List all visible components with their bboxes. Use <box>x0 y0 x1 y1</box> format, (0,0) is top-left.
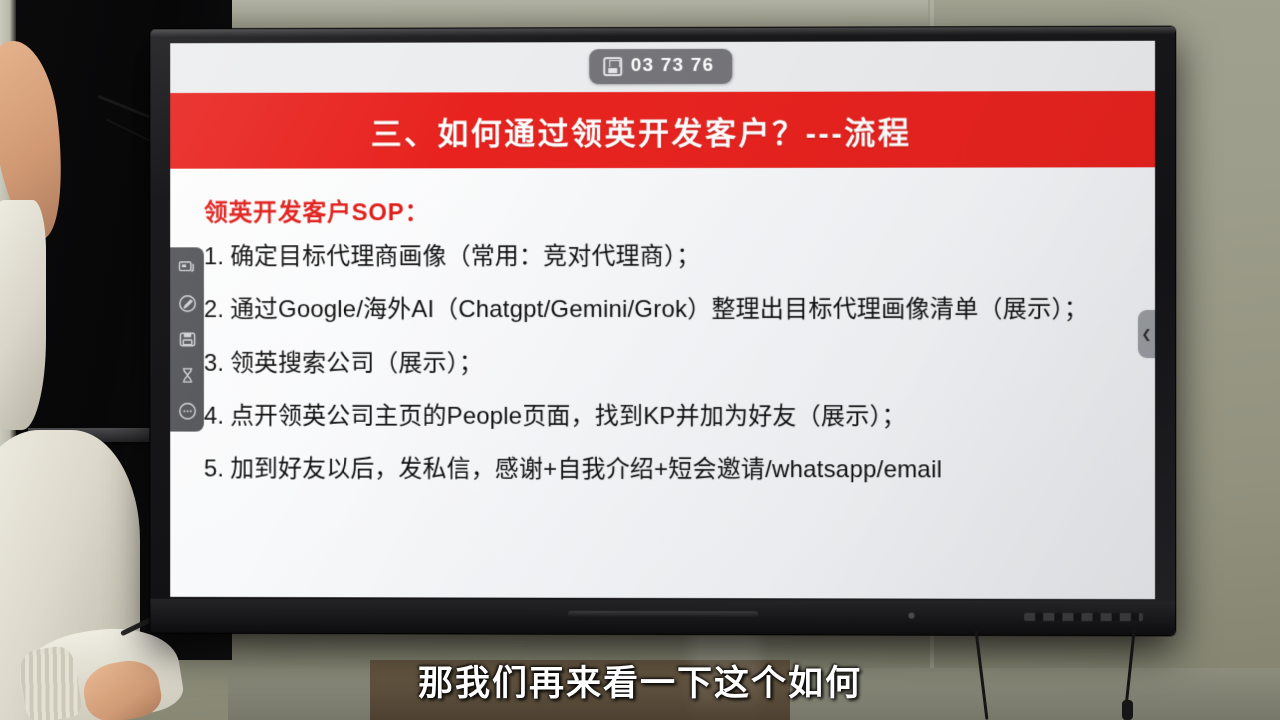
pen-annotate-icon[interactable] <box>176 292 199 315</box>
display-bottom-bezel <box>150 599 1175 636</box>
sop-heading: 领英开发客户SOP： <box>204 191 1127 227</box>
list-item-text: 点开领英公司主页的People页面，找到KP并加为好友（展示）； <box>230 403 906 430</box>
display-screen[interactable]: 03 73 76 三、如何通过领英开发客户？---流程 领英开发客户SOP： 1… <box>170 41 1155 599</box>
chevron-left-icon: ❮ <box>1141 327 1151 341</box>
list-item: 2.通过Google/海外AI（Chatgpt/Gemini/Grok）整理出目… <box>198 296 1127 324</box>
list-item-text: 通过Google/海外AI（Chatgpt/Gemini/Grok）整理出目标代… <box>230 296 1088 323</box>
save-capture-icon[interactable] <box>176 328 199 351</box>
list-item-number: 3. <box>204 350 224 377</box>
list-item-text: 确定目标代理商画像（常用：竞对代理商）； <box>230 243 700 270</box>
list-item-number: 4. <box>204 403 224 430</box>
video-caption: 那我们再来看一下这个如何 <box>0 655 1280 706</box>
slide-body: 领英开发客户SOP： 1.确定目标代理商画像（常用：竞对代理商）； 2.通过Go… <box>170 167 1155 599</box>
collapse-panel-tab[interactable]: ❮ <box>1138 310 1155 358</box>
hourglass-timer-icon[interactable] <box>176 364 199 387</box>
list-item-text: 领英搜索公司（展示）； <box>230 350 483 377</box>
list-item-number: 5. <box>204 456 224 483</box>
bezel-sheen <box>150 27 1175 38</box>
speaker-grille <box>568 611 758 618</box>
timer-badge[interactable]: 03 73 76 <box>589 49 733 84</box>
windows-switch-icon[interactable] <box>176 256 199 279</box>
list-item-text: 加到好友以后，发私信，感谢+自我介绍+短会邀请/whatsapp/email <box>230 456 942 484</box>
sop-list: 1.确定目标代理商画像（常用：竞对代理商）； 2.通过Google/海外AI（C… <box>198 243 1127 486</box>
list-item-number: 1. <box>204 243 224 270</box>
more-menu-icon[interactable] <box>176 400 199 423</box>
save-badge-icon <box>603 57 622 76</box>
screen-top-strip: 03 73 76 <box>170 41 1155 93</box>
slide-title: 三、如何通过领英开发客户？---流程 <box>170 107 1155 154</box>
port-strip <box>1024 613 1143 621</box>
timer-value: 03 73 76 <box>631 55 715 77</box>
slide-title-banner: 三、如何通过领英开发客户？---流程 <box>170 91 1155 169</box>
room-scene: 03 73 76 三、如何通过领英开发客户？---流程 领英开发客户SOP： 1… <box>0 0 1280 720</box>
list-item: 1.确定目标代理商画像（常用：竞对代理商）； <box>198 243 1127 272</box>
wall-upper-strip <box>228 0 928 24</box>
list-item: 4.点开领英公司主页的People页面，找到KP并加为好友（展示）； <box>198 403 1127 432</box>
screen-left-toolbar[interactable] <box>170 247 204 431</box>
list-item: 5.加到好友以后，发私信，感谢+自我介绍+短会邀请/whatsapp/email <box>198 456 1127 485</box>
upper-sleeve <box>0 200 46 430</box>
list-item-number: 2. <box>204 296 224 323</box>
power-led <box>908 613 914 619</box>
wall-mounted-display: 03 73 76 三、如何通过领英开发客户？---流程 领英开发客户SOP： 1… <box>150 27 1175 636</box>
list-item: 3.领英搜索公司（展示）； <box>198 350 1127 379</box>
